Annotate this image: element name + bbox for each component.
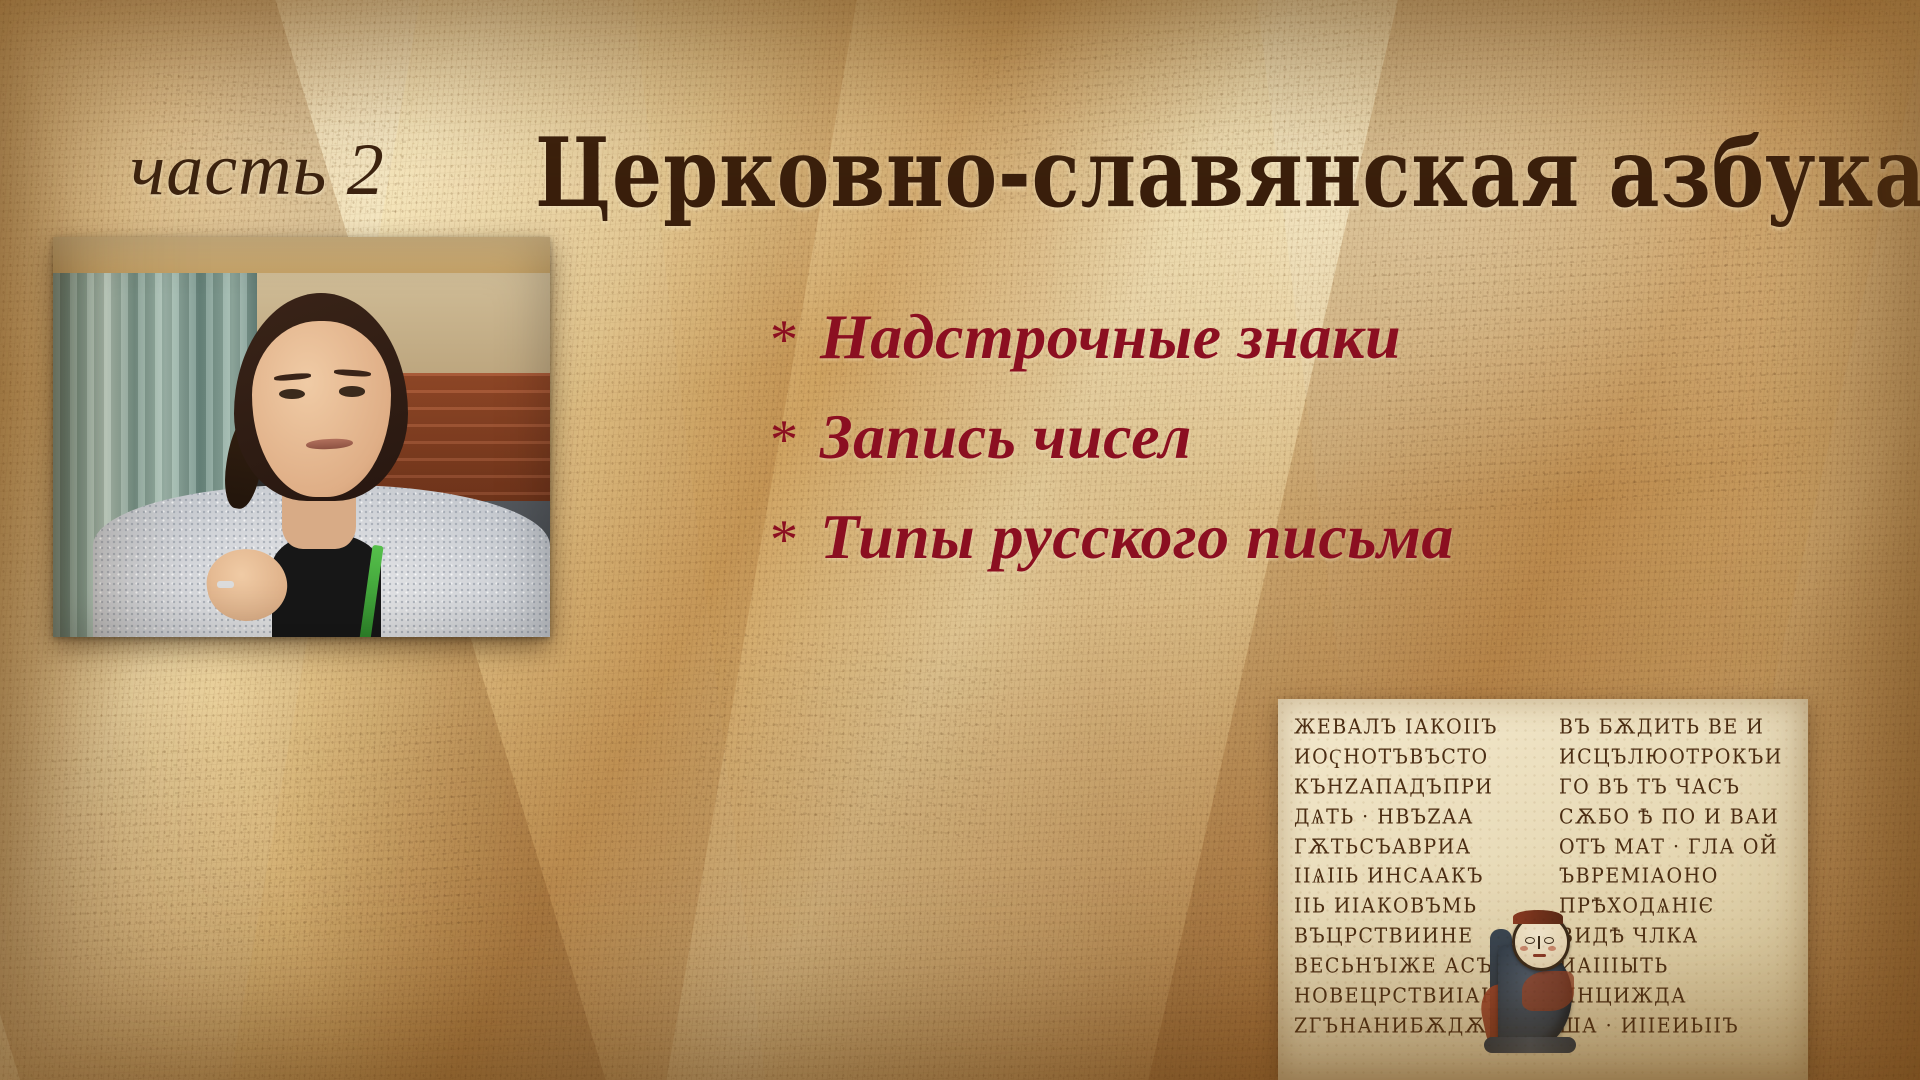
initial-face-cheek-left [1520, 946, 1528, 951]
bullet-star-icon: * [770, 312, 798, 368]
manuscript-line: ВИДѢ ЧЛКА [1553, 921, 1798, 953]
initial-face-cheek-right [1548, 946, 1556, 951]
manuscript-line: ИСЦЪЛЮОТРОКЪИ [1553, 741, 1798, 773]
manuscript-line: ША · ИІІЕИЬІІЪ [1553, 1010, 1798, 1042]
list-item-label: Надстрочные знаки [820, 300, 1401, 374]
manuscript-line: ІІѦІІЬ ИНСААКЪ [1294, 861, 1539, 893]
manuscript-line: ЖЕВАЛЪ ІАКОІІЪ [1294, 712, 1539, 744]
part-label: часть 2 [130, 128, 385, 213]
list-item: * Запись чисел [770, 400, 1454, 474]
topic-list: * Надстрочные знаки * Запись чисел * Тип… [770, 300, 1454, 600]
manuscript-line: ОТЪ МАТ · ГЛА ОЙ [1553, 831, 1798, 863]
initial-face-hair [1513, 910, 1563, 924]
manuscript-line: ГО ВЪ ТЪ ЧАСЪ [1553, 771, 1798, 803]
illuminated-initial-icon [1476, 911, 1588, 1059]
initial-face-nose [1538, 936, 1540, 949]
initial-face-eye-right [1544, 937, 1554, 944]
presentation-slide: часть 2 Церковно-славянская азбука * Над… [0, 0, 1920, 1080]
ring [217, 581, 234, 588]
initial-foot [1484, 1037, 1576, 1053]
manuscript-line: ВЪ БѪДИТЬ ВЕ И [1553, 712, 1798, 744]
initial-face-mouth [1533, 954, 1546, 957]
page-title: Церковно-славянская азбука [535, 118, 1920, 229]
initial-face-eye-left [1525, 937, 1535, 944]
presenter-photo [53, 237, 550, 637]
manuscript-line: ИАІІІЫТЬ [1553, 951, 1798, 983]
eye-right [339, 386, 365, 396]
initial-red-accent [1522, 971, 1574, 1011]
manuscript-line: ГѪТЬСЪАВРИА [1294, 831, 1539, 863]
background-script-texture [52, 722, 488, 958]
list-item-label: Типы русского письма [820, 500, 1454, 574]
list-item-label: Запись чисел [820, 400, 1192, 474]
photo-top-band [53, 237, 550, 273]
initial-face-icon [1512, 913, 1570, 971]
manuscript-line: КЪНZАПАДЪПРИ [1294, 771, 1539, 803]
manuscript-line: ИНЦИЖДА [1553, 980, 1798, 1012]
list-item: * Типы русского письма [770, 500, 1454, 574]
manuscript-line: ИОҀНОТЪВЪСТО [1294, 741, 1539, 773]
manuscript-column-right: ВЪ БѪДИТЬ ВЕ И ИСЦЪЛЮОТРОКЪИ ГО ВЪ ТЪ ЧА… [1553, 713, 1798, 1070]
manuscript-line: ДѦТЬ · НВЪZАА [1294, 801, 1539, 833]
manuscript-line: ПРѢХОДѦНІЄ [1553, 891, 1798, 923]
manuscript-image: ЖЕВАЛЪ ІАКОІІЪ ИОҀНОТЪВЪСТО КЪНZАПАДЪПРИ… [1278, 699, 1808, 1080]
manuscript-line: ЪВРЕМІАОНО [1553, 861, 1798, 893]
list-item: * Надстрочные знаки [770, 300, 1454, 374]
background-script-texture [689, 620, 1011, 840]
bullet-star-icon: * [770, 512, 798, 568]
bullet-star-icon: * [770, 412, 798, 468]
manuscript-line: СѪБО Ѣ ПО И ВАИ [1553, 801, 1798, 833]
